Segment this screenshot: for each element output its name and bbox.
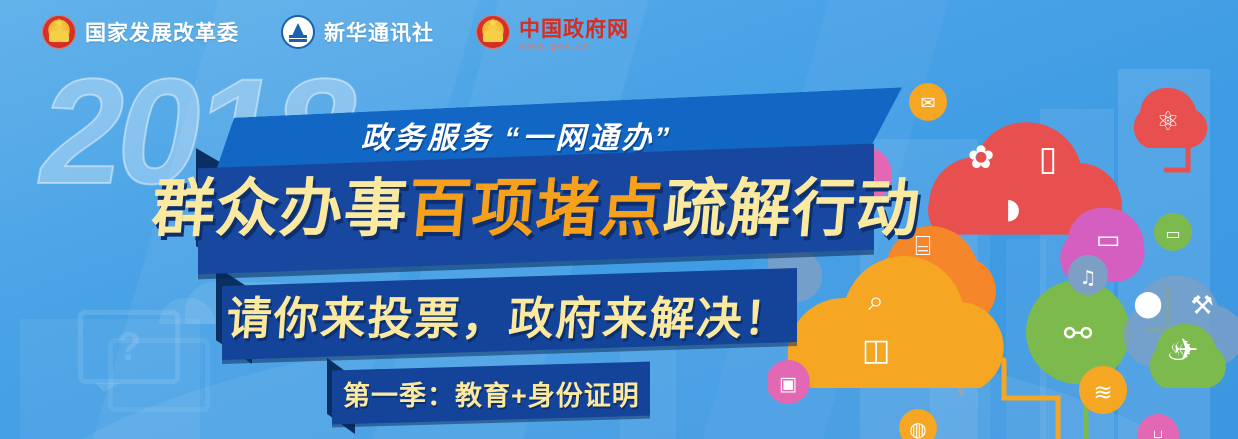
car-icon: ▭: [1165, 224, 1180, 243]
smartphone-icon: ▯: [1039, 139, 1058, 179]
title-part-1: 群众办事: [149, 174, 411, 244]
globe-icon: ◍: [909, 417, 926, 439]
title-part-2: 百项堵点: [405, 174, 667, 244]
chat-bubble-icon: ◗: [1006, 192, 1021, 225]
logo-bar: 国家发展改革委 新华通讯社 中国政府网 www.gov.cn: [0, 0, 1238, 64]
airplane-icon: ✈: [1173, 333, 1198, 368]
camera-icon: ▣: [779, 373, 797, 395]
logo-label-gov-cn: 中国政府网: [519, 13, 629, 43]
gear-icon: ✿: [968, 138, 995, 176]
ribbon-season-text: 第一季：教育+身份证明: [343, 374, 640, 413]
question-bubble-watermark: ?: [78, 310, 180, 384]
cutlery-icon: ⑂: [1152, 425, 1164, 439]
music-note-icon: ♫: [1079, 267, 1096, 289]
logo-sublabel-gov-cn: www.gov.cn: [519, 41, 629, 51]
ribbon-callout: 请你来投票，政府来解决！: [222, 268, 797, 360]
ribbon-main-title-text: 群众办事百项堵点疏解行动: [149, 178, 923, 241]
rss-icon: ≋: [1093, 380, 1112, 406]
building-silhouette: [20, 319, 200, 439]
book-icon: ◫: [862, 333, 890, 368]
credit-card-icon: ▭: [1096, 225, 1121, 255]
logo-label-ndrc: 国家发展改革委: [85, 17, 239, 47]
national-emblem-icon: [476, 15, 510, 49]
campaign-banner: 2018 ? 国家发展改革委 新华通讯社 中国政府网 www.gov.cn: [0, 0, 1238, 439]
envelope-icon: ✉: [920, 93, 935, 114]
ribbon-season: 第一季：教育+身份证明: [332, 362, 650, 425]
xinhua-pagoda-icon: [281, 15, 315, 49]
atom-icon: ⚛: [1156, 107, 1179, 137]
logo-ndrc[interactable]: 国家发展改革委: [42, 15, 239, 49]
question-bubble-shadow: [108, 338, 210, 412]
logo-gov-cn[interactable]: 中国政府网 www.gov.cn: [476, 13, 629, 51]
ribbon-callout-text: 请你来投票，政府来解决！: [225, 282, 794, 347]
search-icon: ⌕: [868, 284, 884, 317]
network-icon: ⚯: [1064, 314, 1093, 354]
logo-xinhua[interactable]: 新华通讯社: [281, 15, 434, 49]
title-part-3: 疏解行动: [661, 174, 923, 244]
national-emblem-icon: [42, 15, 76, 49]
logo-label-xinhua: 新华通讯社: [324, 17, 434, 47]
wrench-icon: ⚒: [1190, 291, 1213, 321]
map-pin-icon: ⬤: [1133, 289, 1162, 319]
